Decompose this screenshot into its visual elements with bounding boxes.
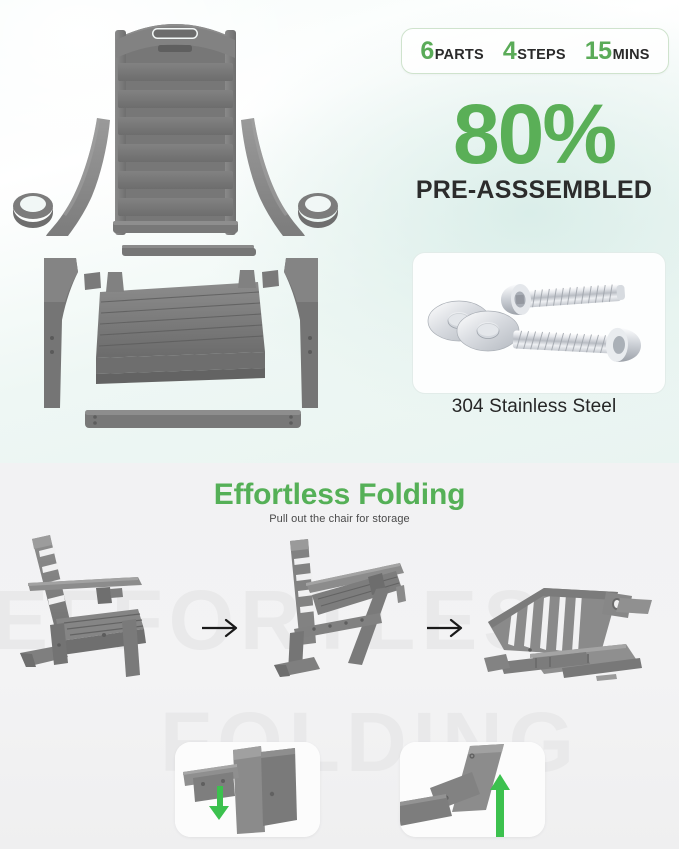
folding-stage-chair-collapsing <box>250 525 425 685</box>
stage-arrow-1-icon <box>200 617 246 639</box>
bolt-lower <box>512 322 642 363</box>
hardware-card <box>412 252 666 394</box>
preassembled-caption: PRE-ASSSEMBLED <box>401 176 667 205</box>
spec-mins-number: 15 <box>585 37 612 66</box>
spec-mins-label: MINS <box>613 47 650 63</box>
bolt-upper <box>500 277 626 317</box>
hardware-caption: 304 Stainless Steel <box>401 396 667 418</box>
spec-steps-number: 4 <box>503 37 516 66</box>
support-bar-lower <box>85 410 301 428</box>
detail-inset-leg-lift <box>400 742 545 837</box>
chair-collapsing-body <box>274 539 406 677</box>
spec-parts-label: PARTS <box>435 47 484 63</box>
seat-assembly <box>96 270 265 384</box>
spec-parts-number: 6 <box>420 37 433 66</box>
spec-badge: 6 PARTS 4 STEPS 15 MINS <box>401 28 669 74</box>
support-bar-mid <box>122 248 256 256</box>
stage-arrow-2-icon <box>425 617 471 639</box>
exploded-chair-diagram <box>0 0 400 455</box>
chair-open-body <box>20 535 146 677</box>
detail-inset-hinge-release <box>175 742 320 837</box>
top-section: 6 PARTS 4 STEPS 15 MINS 80% PRE-ASSSEMBL… <box>0 0 679 463</box>
preassembled-percent: 80% <box>401 92 667 176</box>
spec-badge-item-mins: 15 MINS <box>585 37 650 66</box>
backrest-slat-panel <box>113 24 238 235</box>
spec-badge-item-steps: 4 STEPS <box>503 37 566 66</box>
folding-stage-chair-folded <box>470 570 670 700</box>
chair-folded-body <box>484 588 652 681</box>
washer-right <box>457 311 519 351</box>
spec-badge-item-parts: 6 PARTS <box>420 37 483 66</box>
armrest-left <box>13 118 110 236</box>
armrest-right <box>241 118 338 236</box>
folding-subtitle: Pull out the chair for storage <box>0 513 679 525</box>
infographic-page: 6 PARTS 4 STEPS 15 MINS 80% PRE-ASSSEMBL… <box>0 0 679 849</box>
leg-right <box>284 258 318 408</box>
folding-stage-chair-open <box>10 525 195 685</box>
folding-heading: Effortless Folding <box>0 478 679 512</box>
leg-left <box>44 258 78 408</box>
spec-steps-label: STEPS <box>517 47 566 63</box>
